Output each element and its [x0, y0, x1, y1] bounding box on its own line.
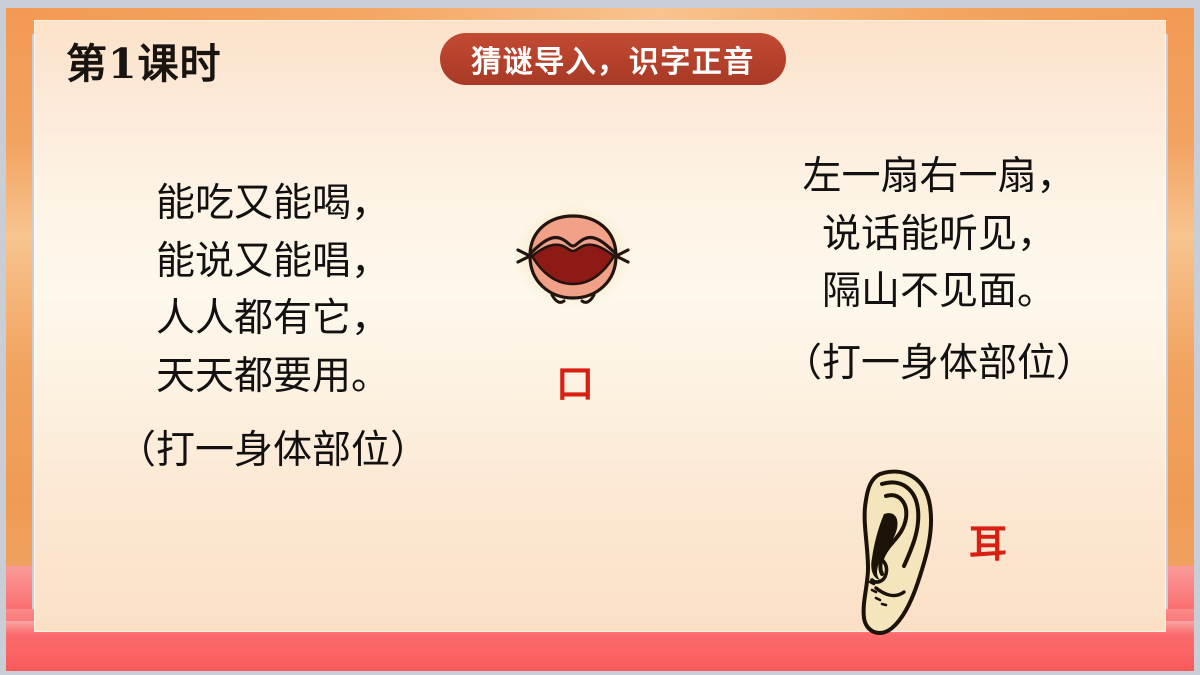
riddle-hint: （打一身体部位）	[724, 335, 1154, 394]
slide-canvas: 第1课时 猜谜导入，识字正音 能吃又能喝， 能说又能唱， 人人都有它， 天天都要…	[0, 0, 1200, 675]
frame-border-right	[1168, 8, 1194, 608]
riddle-line: 隔山不见面。	[724, 263, 1154, 321]
riddle-line: 说话能听见，	[724, 206, 1154, 264]
section-title-badge: 猜谜导入，识字正音	[440, 33, 786, 85]
answer-character-ear: 耳	[969, 525, 1007, 563]
riddle-block-ear: 左一扇右一扇， 说话能听见， 隔山不见面。 （打一身体部位）	[724, 148, 1154, 394]
riddle-line: 能说又能唱，	[58, 233, 488, 291]
frame-border-left	[6, 8, 32, 608]
riddle-line: 能吃又能喝，	[58, 175, 488, 233]
riddle-hint: （打一身体部位）	[58, 422, 488, 481]
content-panel: 第1课时 猜谜导入，识字正音 能吃又能喝， 能说又能唱， 人人都有它， 天天都要…	[34, 20, 1166, 632]
answer-character-mouth: 口	[556, 365, 594, 403]
section-title-text: 猜谜导入，识字正音	[471, 37, 755, 81]
riddle-line: 天天都要用。	[58, 348, 488, 406]
lesson-period-label: 第1课时	[66, 44, 222, 85]
riddle-block-mouth: 能吃又能喝， 能说又能唱， 人人都有它， 天天都要用。 （打一身体部位）	[58, 175, 488, 480]
riddle-line: 左一扇右一扇，	[724, 148, 1154, 206]
mouth-illustration	[508, 198, 638, 318]
riddle-line: 人人都有它，	[58, 290, 488, 348]
ear-illustration	[846, 462, 946, 642]
